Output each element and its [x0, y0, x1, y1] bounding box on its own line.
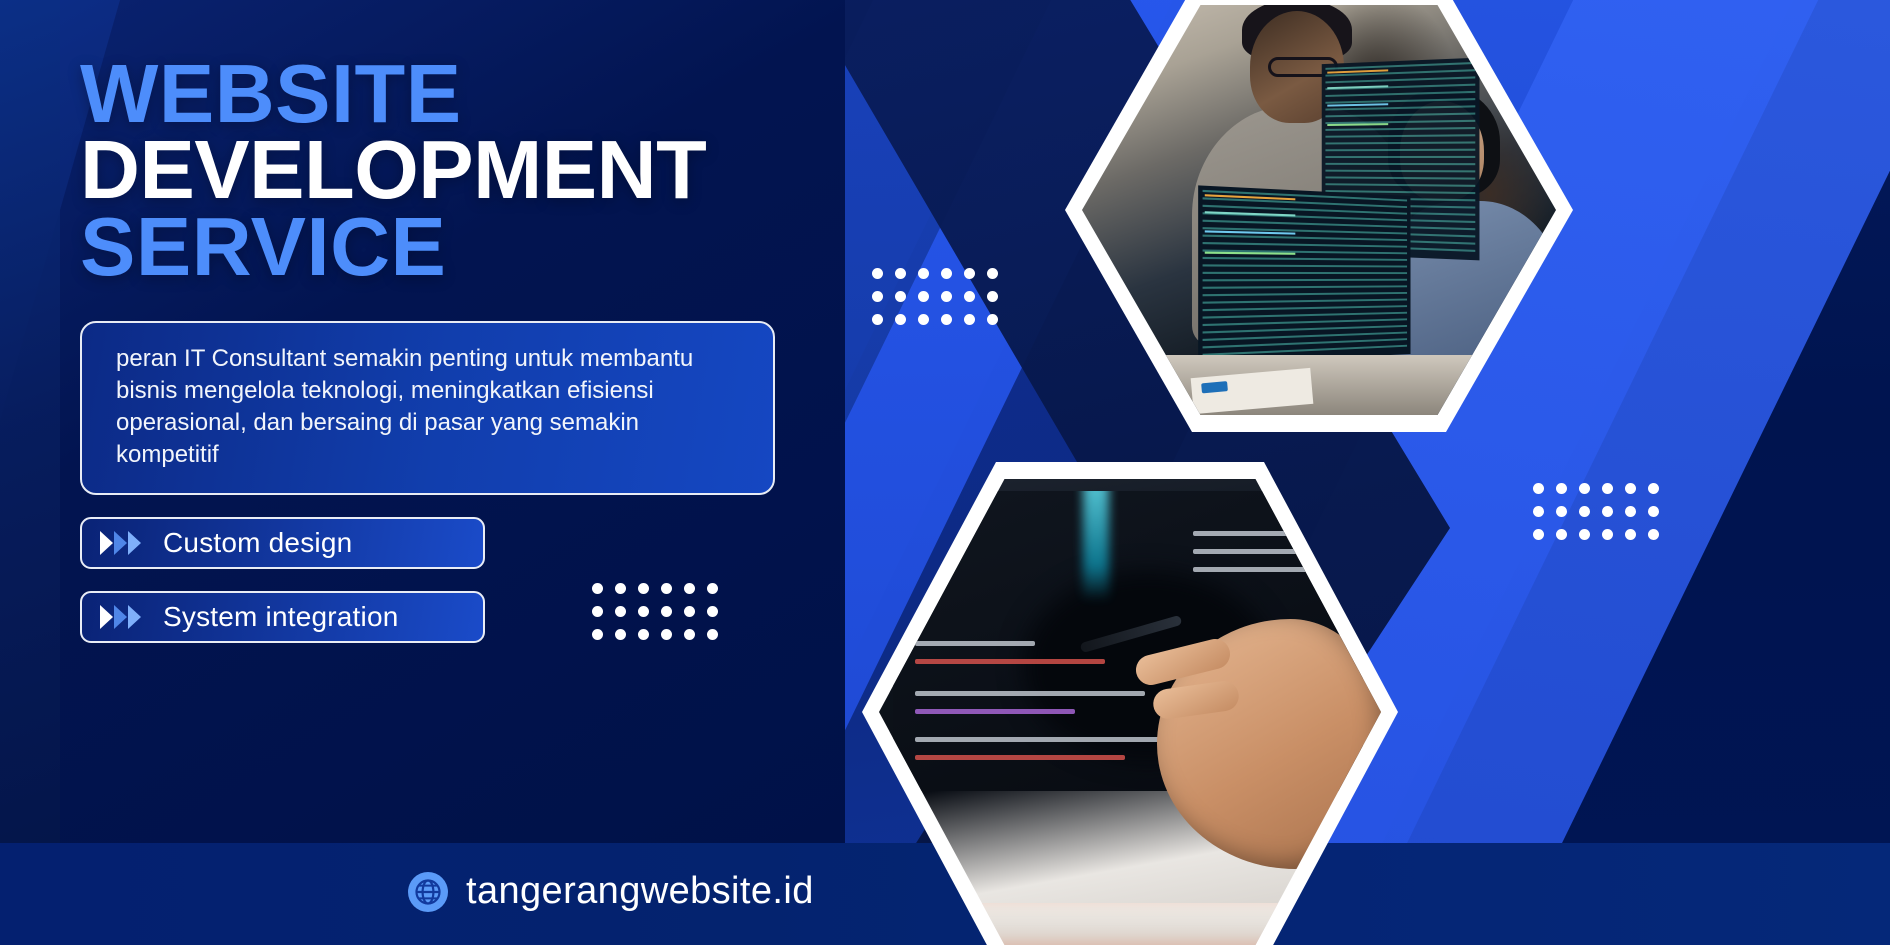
- footer-website[interactable]: tangerangwebsite.id: [408, 870, 814, 913]
- hexagon-inner: [1082, 5, 1556, 415]
- photo-clip: [879, 479, 1381, 945]
- dot: [1533, 483, 1544, 494]
- dot-grid-right: [1533, 483, 1659, 540]
- photo-stylus-screen: [879, 479, 1381, 945]
- dot: [987, 268, 998, 279]
- code-line: [915, 641, 1035, 646]
- photo-developers: [1082, 5, 1556, 415]
- description-box: peran IT Consultant semakin penting untu…: [80, 321, 775, 495]
- dot: [872, 314, 883, 325]
- dot: [895, 291, 906, 302]
- hexagon-photo-stylus: [862, 462, 1398, 945]
- content-column: WEBSITE DEVELOPMENT SERVICE peran IT Con…: [80, 56, 840, 643]
- dot: [1625, 529, 1636, 540]
- dot: [872, 291, 883, 302]
- dot: [987, 291, 998, 302]
- dot: [1556, 483, 1567, 494]
- code-line: [915, 691, 1145, 696]
- dot: [987, 314, 998, 325]
- dot: [964, 314, 975, 325]
- dot: [941, 314, 952, 325]
- left-edge-accent: [0, 0, 60, 945]
- screen-teal-glow: [1083, 491, 1109, 601]
- dot: [964, 268, 975, 279]
- dot: [1625, 483, 1636, 494]
- code-line: [915, 659, 1105, 664]
- dot: [1556, 529, 1567, 540]
- website-url: tangerangwebsite.id: [466, 870, 814, 913]
- desk-surface: [1122, 355, 1556, 415]
- promo-banner: WEBSITE DEVELOPMENT SERVICE peran IT Con…: [0, 0, 1890, 945]
- dot: [872, 268, 883, 279]
- dot: [918, 314, 929, 325]
- code-line: [915, 755, 1125, 760]
- feature-label: Custom design: [163, 527, 352, 559]
- headline-line-2: DEVELOPMENT: [80, 132, 840, 208]
- code-line: [1193, 549, 1313, 554]
- description-text: peran IT Consultant semakin penting untu…: [116, 345, 693, 468]
- dot: [1602, 506, 1613, 517]
- dot: [1648, 506, 1659, 517]
- dot: [1648, 483, 1659, 494]
- headline-line-3: SERVICE: [80, 209, 840, 285]
- dot-grid-top: [872, 268, 998, 325]
- feature-item-system-integration[interactable]: System integration: [80, 591, 485, 643]
- dot: [1533, 506, 1544, 517]
- dot: [1556, 506, 1567, 517]
- dot: [895, 268, 906, 279]
- dot: [1602, 529, 1613, 540]
- dot: [1625, 506, 1636, 517]
- globe-icon: [408, 872, 448, 912]
- monitor-primary: [1198, 185, 1410, 364]
- dot: [941, 291, 952, 302]
- double-chevron-right-icon: [100, 531, 141, 555]
- photo-clip: [1082, 5, 1556, 415]
- page-title: WEBSITE DEVELOPMENT SERVICE: [80, 56, 840, 285]
- double-chevron-right-icon: [100, 605, 141, 629]
- hexagon-photo-developers: [1065, 0, 1573, 432]
- dot: [918, 268, 929, 279]
- code-line: [915, 709, 1075, 714]
- feature-item-custom-design[interactable]: Custom design: [80, 517, 485, 569]
- dot: [1579, 506, 1590, 517]
- dot: [1579, 483, 1590, 494]
- dot: [1579, 529, 1590, 540]
- dot: [964, 291, 975, 302]
- hexagon-inner: [879, 479, 1381, 945]
- code-line: [1193, 531, 1343, 536]
- code-line: [1193, 567, 1353, 572]
- dot: [895, 314, 906, 325]
- dot: [941, 268, 952, 279]
- keyboard: [919, 903, 1339, 945]
- headline-line-1: WEBSITE: [80, 56, 840, 132]
- dot: [1602, 483, 1613, 494]
- feature-label: System integration: [163, 601, 399, 633]
- dot: [918, 291, 929, 302]
- dot: [1648, 529, 1659, 540]
- dot: [1533, 529, 1544, 540]
